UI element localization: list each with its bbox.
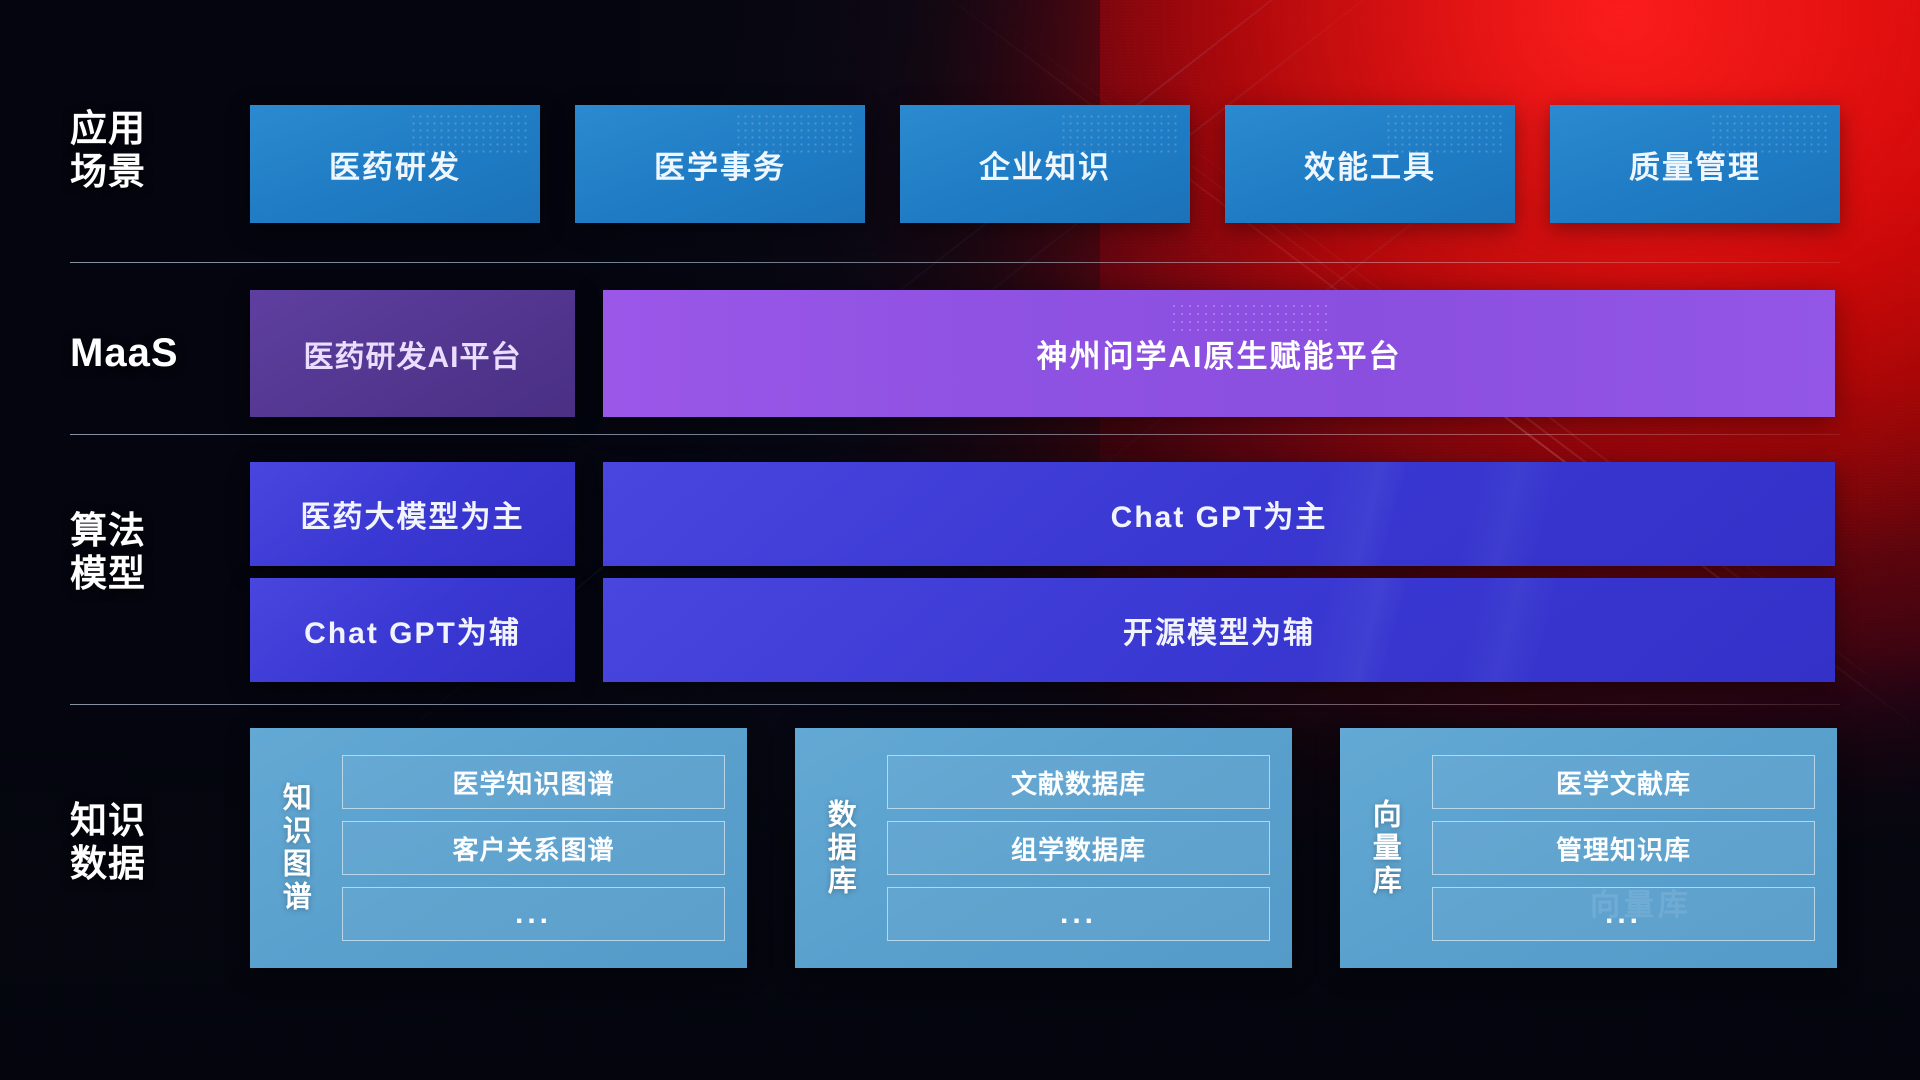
knowledge-item-list: 文献数据库 组学数据库 ...: [883, 728, 1292, 968]
row-label-maas: MaaS: [70, 330, 250, 376]
maas-platform-label: 医药研发AI平台: [304, 332, 522, 376]
knowledge-group-title: 向量库: [1340, 728, 1428, 968]
row-label-line: 场景: [70, 151, 250, 194]
row-label-application: 应用 场景: [70, 108, 250, 194]
algo-model-label: Chat GPT为主: [1111, 492, 1328, 536]
algo-model-label: 开源模型为辅: [1123, 608, 1315, 652]
knowledge-item[interactable]: 医学知识图谱: [342, 755, 725, 809]
app-scenario-box[interactable]: 医药研发: [250, 105, 540, 223]
row-divider: [70, 434, 1840, 435]
knowledge-item[interactable]: 管理知识库: [1432, 821, 1815, 875]
row-label-algorithm: 算法 模型: [70, 510, 250, 596]
algo-model-label: 医药大模型为主: [301, 492, 525, 536]
knowledge-item-more[interactable]: ...: [887, 887, 1270, 941]
dot-pattern: [1710, 113, 1830, 155]
row-label-line: 算法: [70, 510, 250, 553]
knowledge-group[interactable]: 数据库 文献数据库 组学数据库 ...: [795, 728, 1292, 968]
row-label-knowledge: 知识 数据: [70, 800, 250, 886]
row-divider: [70, 262, 1840, 263]
algo-model-box-secondary-left[interactable]: Chat GPT为辅: [250, 578, 575, 682]
dot-pattern: [735, 113, 855, 155]
algo-model-box-secondary-right[interactable]: 开源模型为辅: [603, 578, 1835, 682]
knowledge-item-list: 医学知识图谱 客户关系图谱 ...: [338, 728, 747, 968]
row-label-line: 知识: [70, 800, 250, 843]
knowledge-group-title: 数据库: [795, 728, 883, 968]
knowledge-group-title: 知识图谱: [250, 728, 338, 968]
knowledge-item-more[interactable]: ...: [1432, 887, 1815, 941]
knowledge-item-more[interactable]: ...: [342, 887, 725, 941]
knowledge-item[interactable]: 组学数据库: [887, 821, 1270, 875]
maas-enablement-platform-box[interactable]: 神州问学AI原生赋能平台: [603, 290, 1835, 417]
row-divider: [70, 704, 1840, 705]
row-label-line: MaaS: [70, 330, 250, 376]
app-scenario-box[interactable]: 企业知识: [900, 105, 1190, 223]
knowledge-item-list: 医学文献库 管理知识库 ...: [1428, 728, 1837, 968]
dot-pattern: [1060, 113, 1180, 155]
knowledge-group[interactable]: 知识图谱 医学知识图谱 客户关系图谱 ...: [250, 728, 747, 968]
row-label-line: 模型: [70, 553, 250, 596]
maas-enablement-platform-label: 神州问学AI原生赋能平台: [1037, 331, 1402, 376]
dot-pattern: [410, 113, 530, 155]
knowledge-item[interactable]: 医学文献库: [1432, 755, 1815, 809]
dot-pattern: [1170, 302, 1330, 336]
algo-model-label: Chat GPT为辅: [304, 608, 521, 652]
knowledge-group[interactable]: 向量库 医学文献库 管理知识库 ...: [1340, 728, 1837, 968]
algo-model-box-primary-right[interactable]: Chat GPT为主: [603, 462, 1835, 566]
app-scenario-box[interactable]: 医学事务: [575, 105, 865, 223]
row-label-line: 数据: [70, 843, 250, 886]
algo-model-box-primary-left[interactable]: 医药大模型为主: [250, 462, 575, 566]
slide-canvas: 应用 场景 医药研发 医学事务 企业知识 效能工具 质量管理 MaaS: [0, 0, 1920, 1080]
maas-platform-box[interactable]: 医药研发AI平台: [250, 290, 575, 417]
knowledge-item[interactable]: 客户关系图谱: [342, 821, 725, 875]
dot-pattern: [1385, 113, 1505, 155]
knowledge-item[interactable]: 文献数据库: [887, 755, 1270, 809]
row-label-line: 应用: [70, 108, 250, 151]
app-scenario-box[interactable]: 效能工具: [1225, 105, 1515, 223]
app-scenario-box[interactable]: 质量管理: [1550, 105, 1840, 223]
